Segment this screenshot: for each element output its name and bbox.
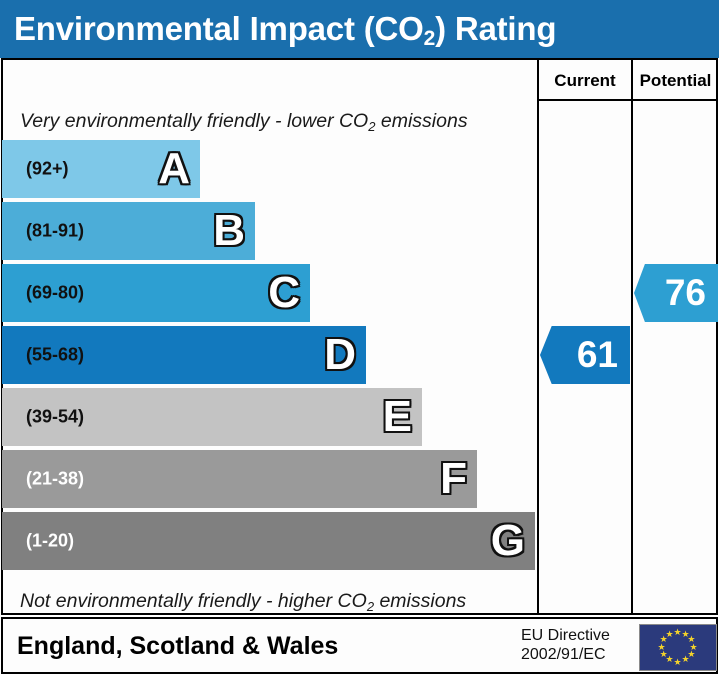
- band-range-label: (55-68): [26, 345, 84, 366]
- column-header-potential: Potential: [633, 68, 718, 94]
- band-range-label: (1-20): [26, 531, 74, 552]
- band-letter-label: D: [324, 333, 356, 377]
- epc-environmental-impact-chart: Environmental Impact (CO2) Rating Curren…: [0, 0, 719, 675]
- band-letter-label: F: [440, 457, 467, 501]
- eu-directive-line1: EU Directive: [521, 626, 633, 645]
- band-letter-label: E: [383, 395, 412, 439]
- column-divider-current: [537, 58, 539, 615]
- page-title-tail: ) Rating: [435, 10, 556, 47]
- caption-bottom: Not environmentally friendly - higher CO…: [20, 590, 466, 613]
- caption-bottom-pre: Not environmentally friendly - higher CO: [20, 590, 367, 612]
- band-letter-label: G: [491, 519, 525, 563]
- eu-directive-line2: 2002/91/EC: [521, 645, 633, 664]
- eu-directive-label: EU Directive 2002/91/EC: [521, 626, 633, 664]
- caption-bottom-post: emissions: [374, 590, 466, 612]
- rating-marker-current: 61: [540, 326, 630, 384]
- page-title-subscript: 2: [424, 27, 435, 50]
- footer-region-label: England, Scotland & Wales: [17, 632, 338, 661]
- chart-header: Environmental Impact (CO2) Rating: [0, 0, 719, 58]
- caption-top-subscript: 2: [368, 119, 375, 134]
- rating-band-a: (92+)A: [2, 140, 200, 198]
- band-letter-label: C: [268, 271, 300, 315]
- rating-band-b: (81-91)B: [2, 202, 255, 260]
- column-divider-potential: [631, 58, 633, 615]
- eu-flag-icon: [639, 624, 717, 671]
- rating-value-potential: 76: [665, 272, 706, 314]
- page-title-main: Environmental Impact (CO: [14, 10, 424, 47]
- band-range-label: (81-91): [26, 221, 84, 242]
- band-range-label: (69-80): [26, 283, 84, 304]
- band-letter-label: B: [213, 209, 245, 253]
- caption-bottom-subscript: 2: [367, 599, 374, 614]
- rating-marker-potential: 76: [634, 264, 718, 322]
- column-header-underline: [537, 99, 718, 101]
- band-range-label: (92+): [26, 159, 69, 180]
- band-letter-label: A: [158, 147, 190, 191]
- caption-top: Very environmentally friendly - lower CO…: [20, 110, 468, 133]
- rating-band-c: (69-80)C: [2, 264, 310, 322]
- rating-band-e: (39-54)E: [2, 388, 422, 446]
- rating-band-f: (21-38)F: [2, 450, 477, 508]
- caption-top-post: emissions: [375, 110, 467, 132]
- column-header-current: Current: [539, 68, 631, 94]
- chart-footer: England, Scotland & Wales EU Directive 2…: [1, 617, 718, 674]
- page-title: Environmental Impact (CO2) Rating: [14, 10, 556, 48]
- rating-value-current: 61: [577, 334, 618, 376]
- caption-top-pre: Very environmentally friendly - lower CO: [20, 110, 368, 132]
- rating-band-g: (1-20)G: [2, 512, 535, 570]
- band-range-label: (39-54): [26, 407, 84, 428]
- band-range-label: (21-38): [26, 469, 84, 490]
- rating-band-d: (55-68)D: [2, 326, 366, 384]
